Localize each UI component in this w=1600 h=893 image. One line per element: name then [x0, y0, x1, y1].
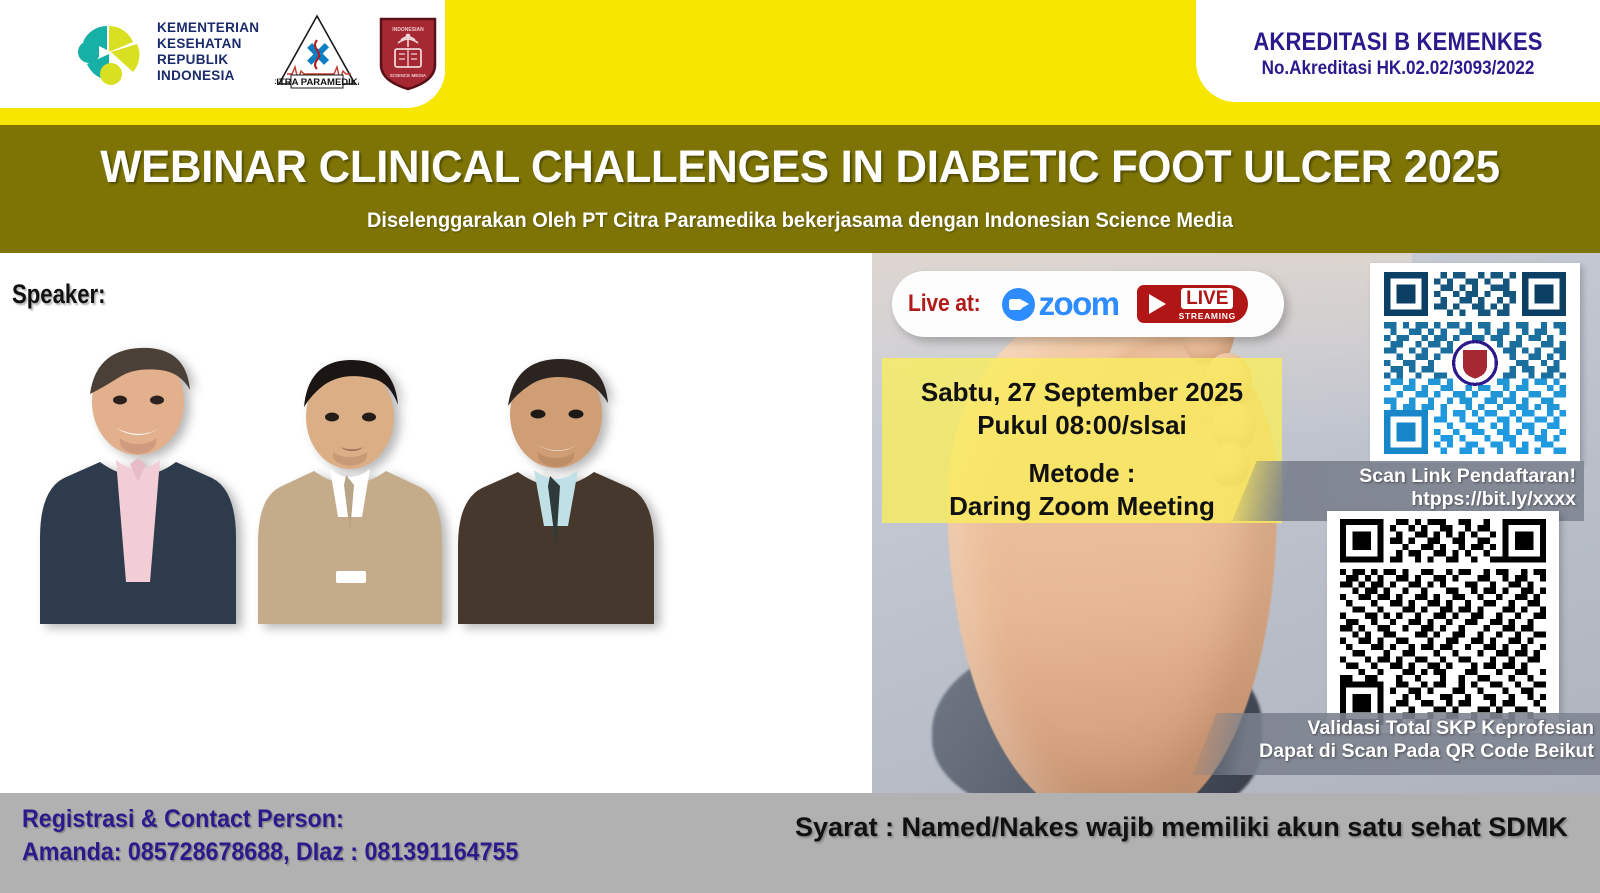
event-method-label: Metode : [892, 457, 1272, 490]
title-banner: WEBINAR CLINICAL CHALLENGES IN DIABETIC … [0, 125, 1600, 253]
akreditasi-number: No.Akreditasi HK.02.02/3093/2022 [1216, 58, 1580, 80]
live-at-badge: Live at: zoom LIVE STREAMING [892, 271, 1284, 337]
page-subtitle: Diselenggarakan Oleh PT Citra Paramedika… [40, 209, 1560, 233]
speaker-photo-1 [20, 324, 270, 624]
qr1-caption-line2: htpps://bit.ly/xxxx [1359, 488, 1576, 511]
event-date: Sabtu, 27 September 2025 [892, 376, 1272, 409]
skp-validation-qr-code[interactable] [1327, 511, 1559, 733]
requirement-text: Syarat : Named/Nakes wajib memiliki akun… [795, 812, 1568, 843]
kemenkes-line-1: KEMENTERIAN [157, 20, 259, 36]
zoom-camera-icon [1002, 288, 1035, 321]
akreditasi-block: AKREDITASI B KEMENKES No.Akreditasi HK.0… [1196, 28, 1600, 80]
play-icon [1137, 285, 1175, 323]
kemenkes-line-2: KESEHATAN [157, 36, 259, 52]
event-method-value: Daring Zoom Meeting [892, 490, 1272, 523]
live-label: LIVE [1181, 288, 1233, 309]
page-title: WEBINAR CLINICAL CHALLENGES IN DIABETIC … [24, 143, 1576, 191]
speaker-photo-3 [438, 334, 683, 624]
svg-text:SCIENCE MEDIA: SCIENCE MEDIA [390, 73, 427, 78]
qr2-caption-line2: Dapat di Scan Pada QR Code Beikut [1259, 740, 1594, 763]
zoom-wordmark: zoom [1038, 285, 1118, 323]
zoom-logo: zoom [1002, 285, 1118, 323]
contact-numbers: Amanda: 085728678688, DIaz : 08139116475… [22, 836, 518, 869]
logo-group: KEMENTERIAN KESEHATAN REPUBLIK INDONESIA… [75, 12, 441, 92]
live-at-label: Live at: [908, 290, 981, 318]
event-details-panel: Live at: zoom LIVE STREAMING Sabtu, 27 S… [872, 253, 1600, 793]
speakers-panel: Speaker: [0, 256, 872, 793]
svg-text:CITRA PARAMEDIKA: CITRA PARAMEDIKA [275, 77, 359, 88]
kemenkes-flower-icon [75, 16, 147, 88]
live-streaming-badge: LIVE STREAMING [1137, 285, 1248, 323]
svg-text:INDONESIAN: INDONESIAN [393, 27, 425, 33]
skp-validation-qr-caption: Validasi Total SKP Keprofesian Dapat di … [1192, 713, 1600, 775]
streaming-label: STREAMING [1179, 311, 1236, 321]
akreditasi-title: AKREDITASI B KEMENKES [1220, 28, 1576, 57]
event-datetime-box: Sabtu, 27 September 2025 Pukul 08:00/sls… [882, 358, 1282, 523]
speaker-photos [20, 324, 660, 624]
kemenkes-logo-text: KEMENTERIAN KESEHATAN REPUBLIK INDONESIA [157, 20, 259, 84]
contact-block: Registrasi & Contact Person: Amanda: 085… [22, 803, 518, 868]
kemenkes-line-4: INDONESIA [157, 68, 259, 84]
event-time: Pukul 08:00/slsai [892, 409, 1272, 442]
qr2-caption-line1: Validasi Total SKP Keprofesian [1259, 717, 1594, 740]
citra-paramedika-logo: CITRA PARAMEDIKA [275, 12, 359, 92]
speaker-label: Speaker: [12, 279, 106, 310]
kemenkes-logo: KEMENTERIAN KESEHATAN REPUBLIK INDONESIA [75, 16, 259, 88]
live-streaming-text: LIVE STREAMING [1175, 285, 1248, 323]
contact-heading: Registrasi & Contact Person: [22, 803, 518, 836]
indonesian-science-media-shield-icon: INDONESIAN SCIENCE MEDIA [375, 13, 441, 91]
registration-qr-code[interactable] [1370, 263, 1580, 463]
webinar-poster: KEMENTERIAN KESEHATAN REPUBLIK INDONESIA… [0, 0, 1600, 893]
qr1-caption-line1: Scan Link Pendaftaran! [1359, 465, 1576, 488]
kemenkes-line-3: REPUBLIK [157, 52, 259, 68]
